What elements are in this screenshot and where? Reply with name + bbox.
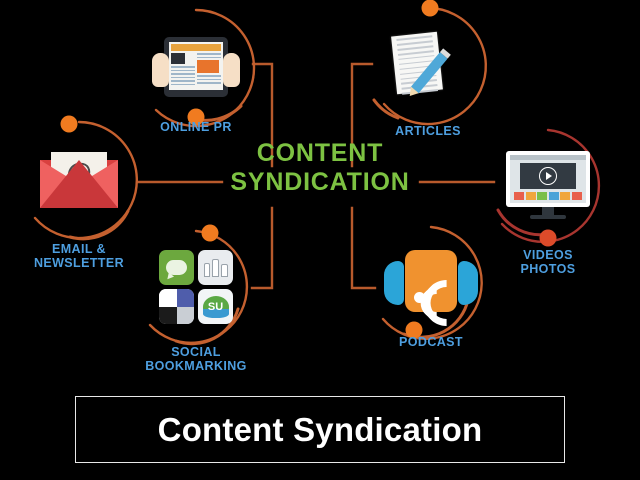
label-line: NEWSLETTER [34,256,124,270]
connector-social [252,208,272,288]
node-label-online-pr: ONLINE PR [160,120,232,134]
envelope-at-icon: @ [40,152,118,208]
label-line: ONLINE PR [160,120,232,134]
label-line: PHOTOS [521,262,576,276]
delicious-tile [159,289,194,324]
infographic-canvas: ONLINE PR ARTICLES [0,0,640,480]
caption-banner: Content Syndication [75,396,565,463]
label-line: EMAIL & [34,242,124,256]
rss-badge [405,250,457,312]
center-title-line1: CONTENT [257,139,383,167]
stumbleupon-tile: SU [198,289,233,324]
node-label-podcast: PODCAST [399,335,463,349]
accent-dot-videos [540,230,557,247]
accent-dot-social [202,225,219,242]
node-label-social-bookmarking: SOCIAL BOOKMARKING [145,345,247,373]
label-line: ARTICLES [395,124,461,138]
tablet-newspaper-icon [150,35,242,101]
node-label-email-newsletter: EMAIL & NEWSLETTER [34,242,124,270]
accent-dot-email [61,116,78,133]
monitor-play-icon [506,151,590,221]
node-label-videos-photos: VIDEOS PHOTOS [521,248,576,276]
label-line: BOOKMARKING [145,359,247,373]
stumbleupon-glyph: SU [208,301,223,313]
accent-dot-articles [422,0,439,17]
social-bookmark-grid-icon: SU [159,250,233,324]
connector-podcast [352,208,375,288]
label-line: VIDEOS [521,248,576,262]
caption-text: Content Syndication [158,411,483,449]
people-tile [198,250,233,285]
node-label-articles: ARTICLES [395,124,461,138]
center-title: CONTENT SYNDICATION [190,139,450,197]
monitor-thumbnails [514,192,582,200]
center-title-line2: SYNDICATION [190,168,450,197]
label-line: SOCIAL [145,345,247,359]
podcast-rss-headphones-icon [384,246,478,320]
chat-bubble-tile [159,250,194,285]
label-line: PODCAST [399,335,463,349]
document-pencil-icon [390,30,466,102]
headphone-left [384,261,404,305]
